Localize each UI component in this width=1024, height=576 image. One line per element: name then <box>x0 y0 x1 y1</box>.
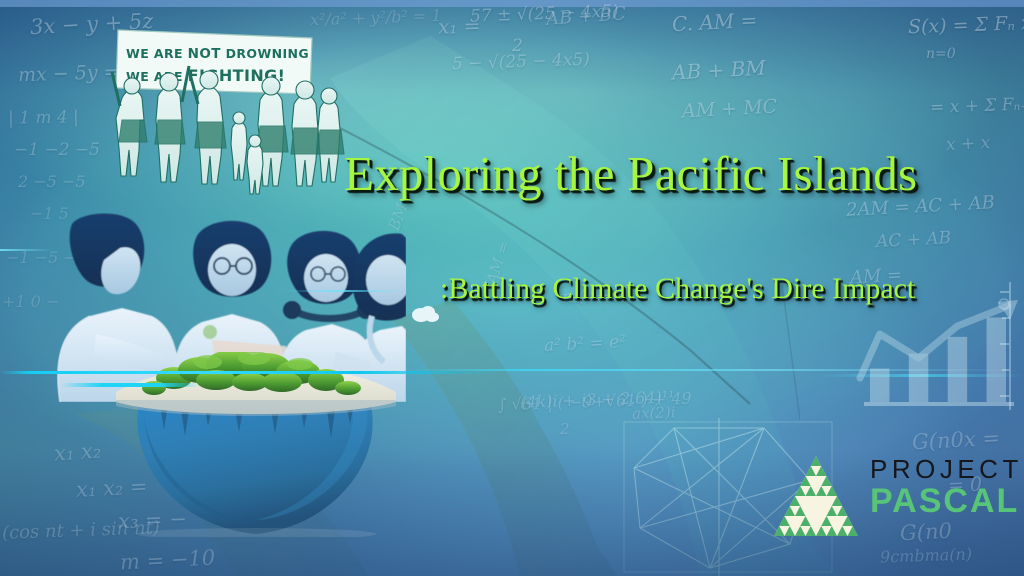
title-block: Exploring the Pacific Islands <box>344 148 1004 199</box>
page-title: Exploring the Pacific Islands <box>344 148 1004 199</box>
sierpinski-cell <box>811 456 822 466</box>
chart-bar <box>948 337 967 402</box>
logo-line-project: PROJECT <box>870 456 1023 483</box>
brand-logo[interactable]: PROJECT PASCAL <box>772 452 1016 544</box>
top-edge-strip <box>0 0 1024 7</box>
chart-bar <box>870 369 889 402</box>
svg-text:WE ARE NOT DROWNING: WE ARE NOT DROWNING <box>126 46 309 62</box>
logo-line-pascal: PASCAL <box>870 484 1023 520</box>
subtitle-block: :Battling Climate Change's Dire Impact <box>440 272 1020 305</box>
floating-island-illustration <box>104 352 414 537</box>
protest-illustration: WE ARE NOT DROWNING WE ARE FIGHTING! <box>96 22 346 200</box>
sierpinski-triangle-icon <box>772 454 860 538</box>
cloud-icon <box>410 304 440 324</box>
presentation-slide: 3x − y + 5zmx − 5y = −3| 1 m 4 |−1 −2 −5… <box>0 0 1024 576</box>
logo-wordmark: PROJECT PASCAL <box>870 456 1023 520</box>
page-subtitle: :Battling Climate Change's Dire Impact <box>440 272 1020 305</box>
